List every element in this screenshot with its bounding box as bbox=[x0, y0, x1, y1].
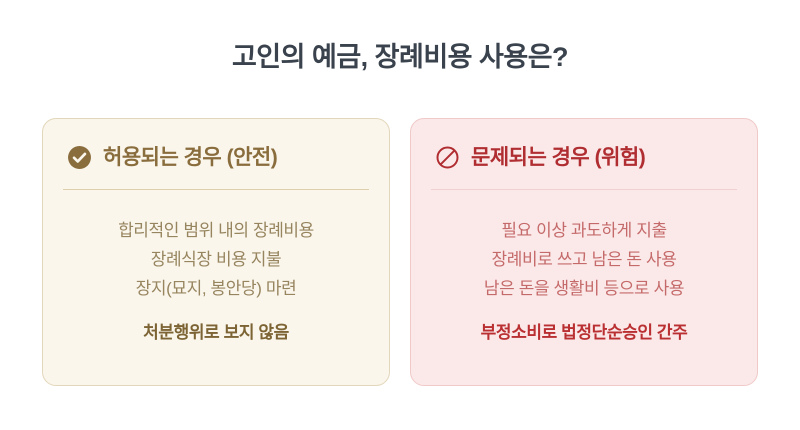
list-item: 남은 돈을 생활비 등으로 사용 bbox=[484, 274, 684, 303]
card-header-allowed: 허용되는 경우 (안전) bbox=[63, 141, 369, 173]
card-allowed-cases: 허용되는 경우 (안전) 합리적인 범위 내의 장례비용 장례식장 비용 지불 … bbox=[42, 118, 390, 386]
card-body-problem: 필요 이상 과도하게 지출 장례비로 쓰고 남은 돈 사용 남은 돈을 생활비 … bbox=[431, 216, 737, 343]
comparison-cards: 허용되는 경우 (안전) 합리적인 범위 내의 장례비용 장례식장 비용 지불 … bbox=[42, 118, 758, 386]
divider-allowed bbox=[63, 189, 369, 190]
card-title-allowed: 허용되는 경우 (안전) bbox=[103, 147, 277, 168]
list-item: 장례식장 비용 지불 bbox=[151, 245, 282, 274]
list-item: 필요 이상 과도하게 지출 bbox=[501, 216, 666, 245]
card-problem-cases: 문제되는 경우 (위험) 필요 이상 과도하게 지출 장례비로 쓰고 남은 돈 … bbox=[410, 118, 758, 386]
card-footer-problem: 부정소비로 법정단순승인 간주 bbox=[481, 323, 688, 343]
page-title: 고인의 예금, 장례비용 사용은? bbox=[0, 40, 800, 75]
list-item: 합리적인 범위 내의 장례비용 bbox=[118, 216, 314, 245]
prohibited-icon bbox=[435, 145, 460, 170]
list-item: 장례비로 쓰고 남은 돈 사용 bbox=[492, 245, 677, 274]
check-circle-icon bbox=[67, 145, 92, 170]
infographic-root: 고인의 예금, 장례비용 사용은? 허용되는 경우 (안전) 합리적인 범위 내… bbox=[0, 0, 800, 430]
card-title-problem: 문제되는 경우 (위험) bbox=[471, 147, 645, 168]
list-item: 장지(묘지, 봉안당) 마련 bbox=[136, 274, 297, 303]
divider-problem bbox=[431, 189, 737, 190]
card-body-allowed: 합리적인 범위 내의 장례비용 장례식장 비용 지불 장지(묘지, 봉안당) 마… bbox=[63, 216, 369, 343]
card-footer-allowed: 처분행위로 보지 않음 bbox=[143, 323, 289, 343]
card-header-problem: 문제되는 경우 (위험) bbox=[431, 141, 737, 173]
